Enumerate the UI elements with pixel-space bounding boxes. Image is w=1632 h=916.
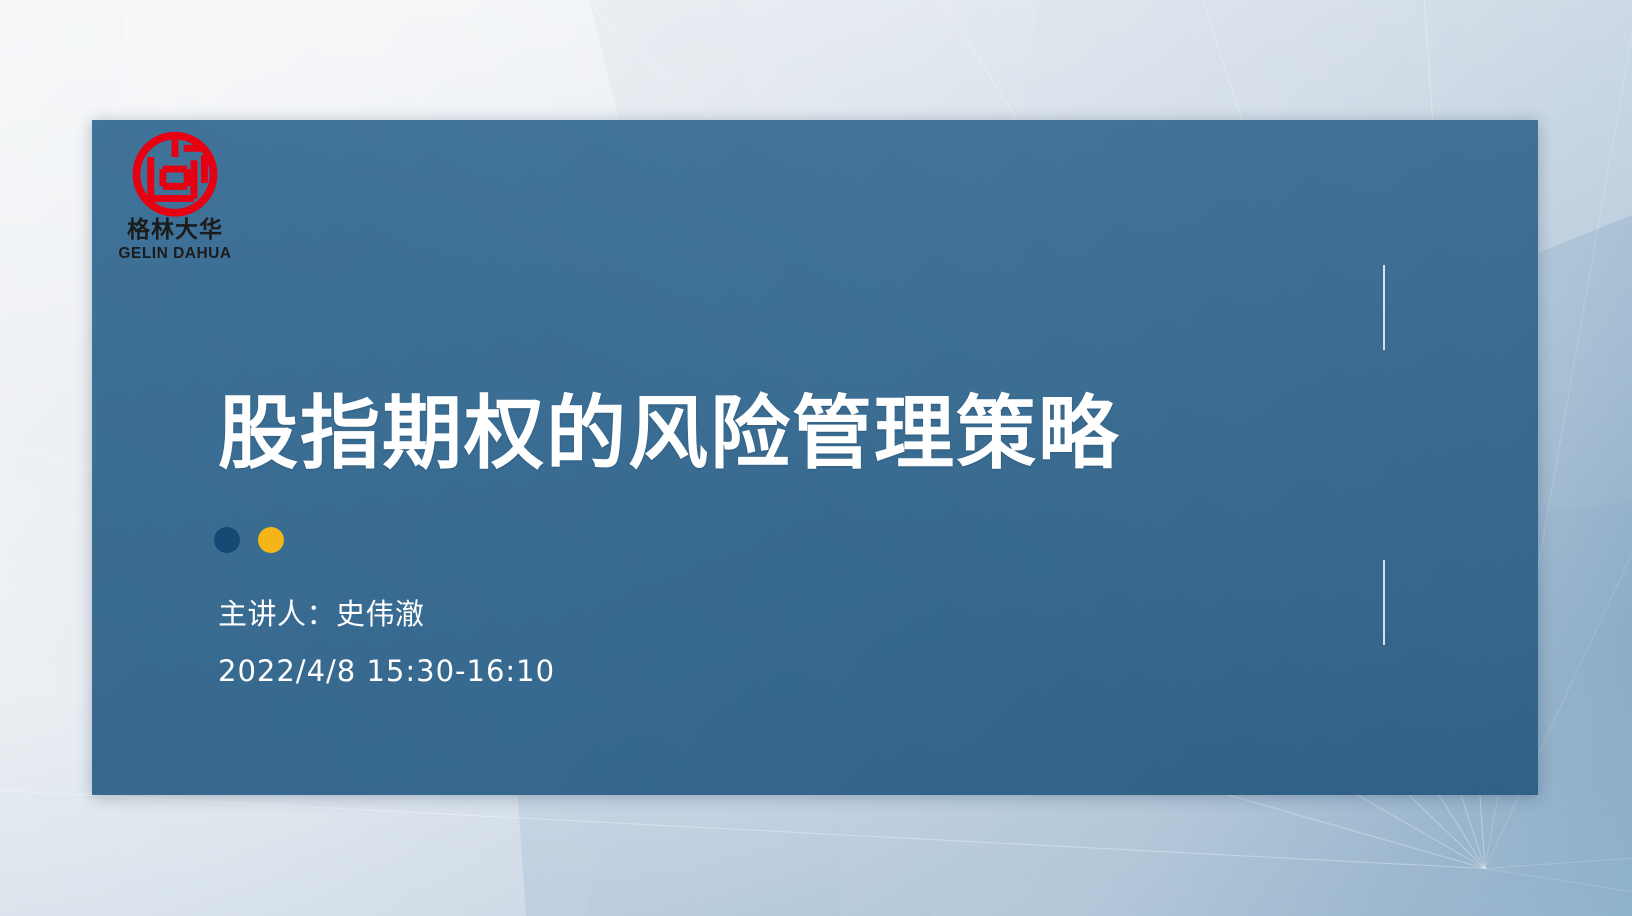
gelin-dahua-seal-icon xyxy=(123,131,227,218)
session-time-label: 2022/4/8 15:30-16:10 xyxy=(218,657,555,686)
background-seam-line xyxy=(1485,868,1632,916)
decorative-rule-bottom xyxy=(1383,560,1385,645)
logo-chinese-name: 格林大华 xyxy=(127,219,223,242)
gold-dot xyxy=(258,527,284,553)
presentation-title-slide: 格林大华 GELIN DAHUA 股指期权的风险管理策略 主讲人：史伟澈 202… xyxy=(0,0,1632,916)
decorative-rule-top xyxy=(1383,265,1385,350)
slide-title: 股指期权的风险管理策略 xyxy=(218,391,1120,477)
navy-dot xyxy=(214,527,240,553)
logo-english-name: GELIN DAHUA xyxy=(118,246,231,262)
accent-dots xyxy=(214,527,284,553)
presenter-label: 主讲人：史伟澈 xyxy=(218,600,425,629)
company-logo: 格林大华 GELIN DAHUA xyxy=(110,131,240,261)
